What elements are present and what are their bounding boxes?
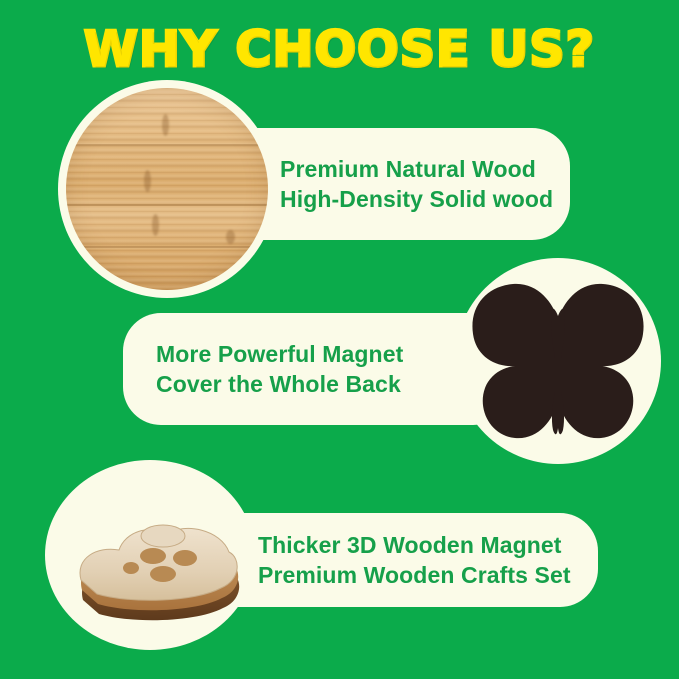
page-title: WHY CHOOSE US? [0, 22, 679, 78]
craft-cutout [173, 550, 197, 566]
feature-3-line-1: Thicker 3D Wooden Magnet [258, 530, 598, 560]
feature-3-line-2: Premium Wooden Crafts Set [258, 560, 598, 590]
wood-knot [144, 170, 151, 192]
craft-cutout [150, 566, 176, 582]
wood-knot [226, 230, 235, 244]
feature-card-powerful-magnet: More Powerful Magnet Cover the Whole Bac… [123, 313, 511, 425]
wood-knot [152, 214, 159, 236]
wood-disc-texture [66, 88, 268, 290]
layered-wooden-craft-photo [45, 460, 255, 650]
wood-grain-seam [66, 204, 268, 206]
wood-grain-seam [66, 144, 268, 146]
butterfly-icon [467, 280, 649, 442]
feature-1-line-1: Premium Natural Wood [280, 154, 570, 184]
craft-cutout [123, 562, 139, 574]
wood-knot [162, 114, 169, 136]
feature-1-line-2: High-Density Solid wood [280, 184, 570, 214]
craft-cutout [140, 548, 166, 564]
wooden-craft-icon [45, 484, 255, 634]
craft-knob [141, 525, 185, 547]
black-butterfly-magnet-photo [455, 258, 661, 464]
why-choose-us-infographic: WHY CHOOSE US? Premium Natural Wood High… [0, 0, 679, 679]
wood-grain-seam [66, 246, 268, 248]
bamboo-wood-disc-photo [58, 80, 276, 298]
